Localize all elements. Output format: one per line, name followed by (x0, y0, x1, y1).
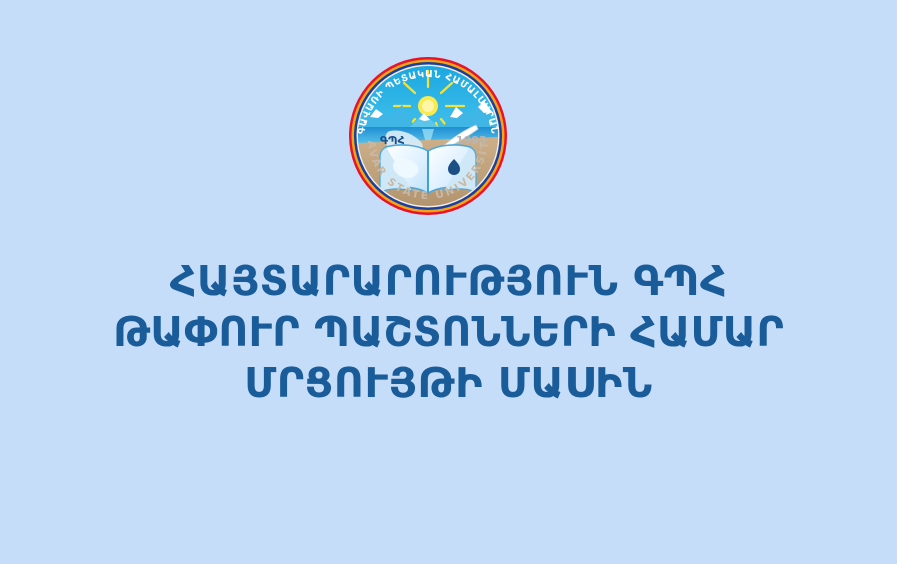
announcement-banner: ԳՊՀ 1993 ԳԱՎԱՌԻ ՊԵՏԱԿԱՆ ՀԱՄԱԼՍԱՐԱՆ GAVAR… (0, 0, 897, 564)
page-title: ՀԱՅՏԱՐԱՐՈՒԹՅՈՒՆ ԳՊՀ ԹԱՓՈՒՐ ՊԱՇՏՈՆՆԵՐԻ ՀԱ… (0, 256, 897, 409)
university-logo-graphic: ԳՊՀ 1993 ԳԱՎԱՌԻ ՊԵՏԱԿԱՆ ՀԱՄԱԼՍԱՐԱՆ GAVAR… (342, 55, 514, 217)
page-title-line-3: ՄՐՑՈՒՅԹԻ ՄԱՍԻՆ (0, 358, 897, 409)
page-title-line-1: ՀԱՅՏԱՐԱՐՈՒԹՅՈՒՆ ԳՊՀ (0, 256, 897, 307)
university-logo: ԳՊՀ 1993 ԳԱՎԱՌԻ ՊԵՏԱԿԱՆ ՀԱՄԱԼՍԱՐԱՆ GAVAR… (342, 55, 514, 217)
page-title-line-2: ԹԱՓՈՒՐ ՊԱՇՏՈՆՆԵՐԻ ՀԱՄԱՐ (0, 307, 897, 358)
logo-abbreviation: ԳՊՀ (380, 134, 405, 147)
